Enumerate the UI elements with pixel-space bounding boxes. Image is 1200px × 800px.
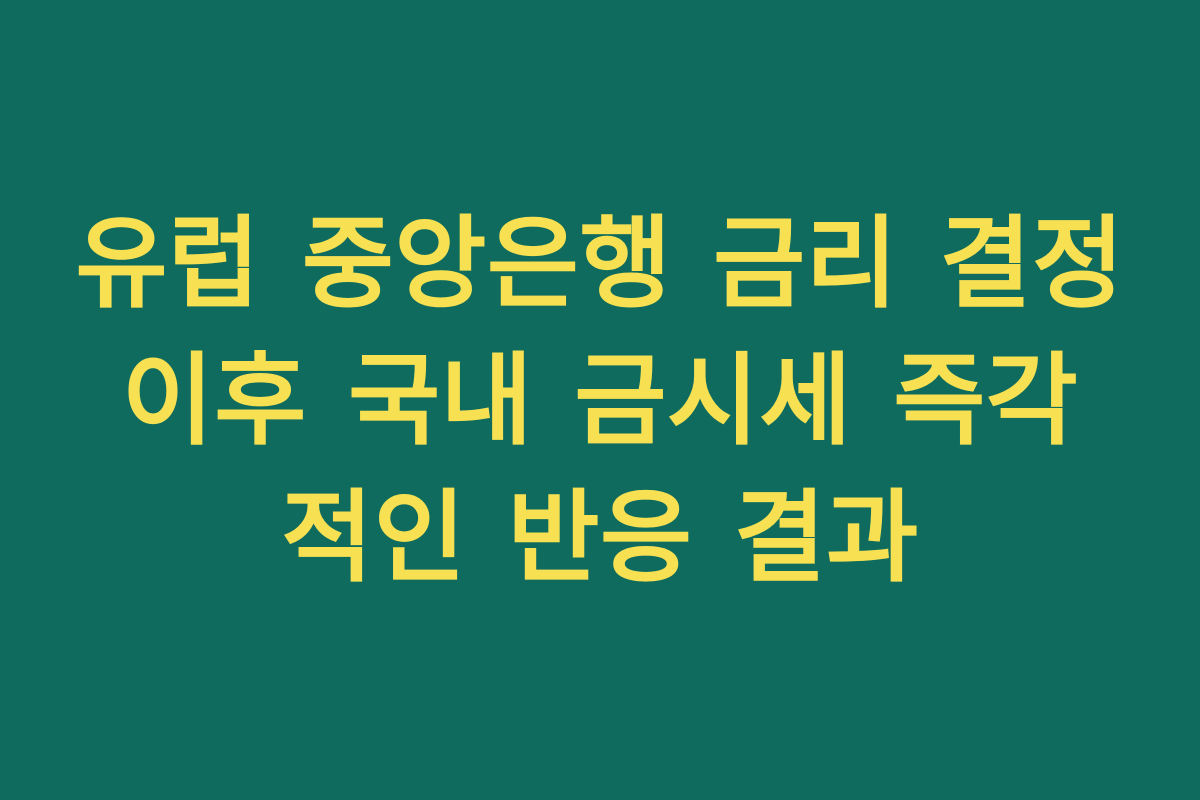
headline-line-1: 유럽 중앙은행 금리 결정 [70,195,1130,332]
headline-card: 유럽 중앙은행 금리 결정 이후 국내 금시세 즉각 적인 반응 결과 [0,0,1200,800]
headline-line-2: 이후 국내 금시세 즉각 [70,332,1130,469]
page-title: 유럽 중앙은행 금리 결정 이후 국내 금시세 즉각 적인 반응 결과 [70,195,1130,606]
headline-line-3: 적인 반응 결과 [70,469,1130,606]
